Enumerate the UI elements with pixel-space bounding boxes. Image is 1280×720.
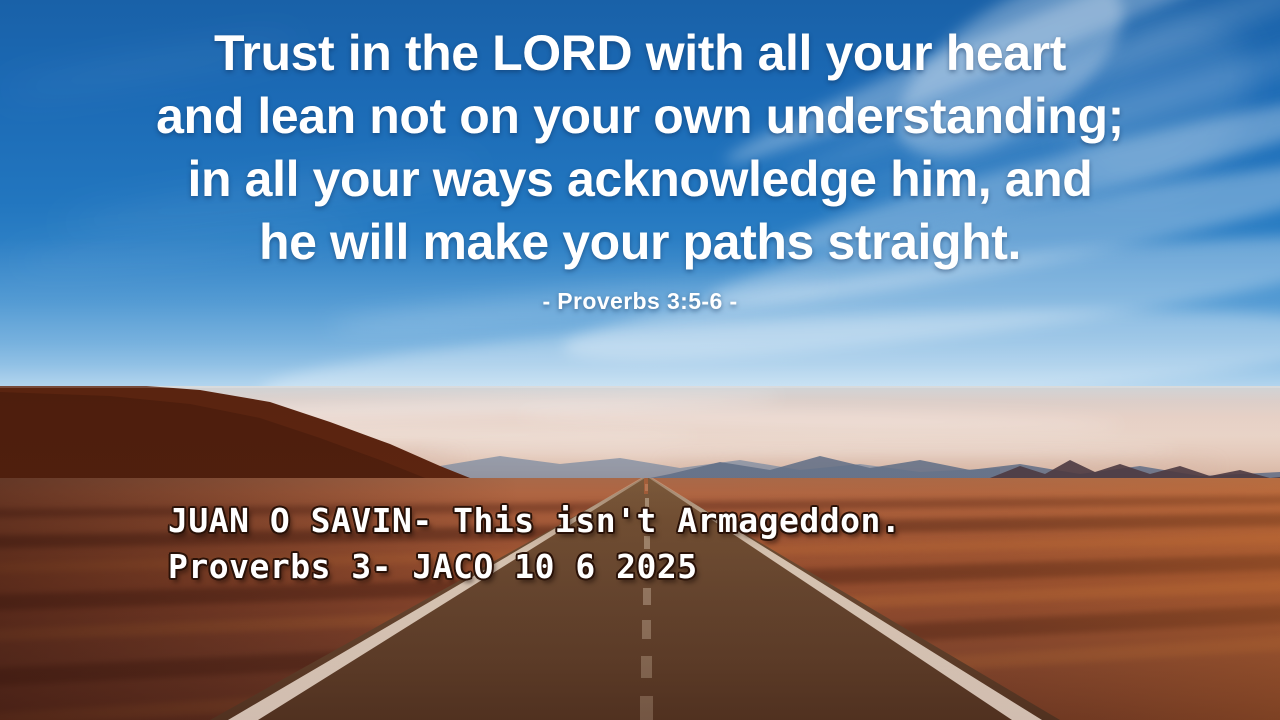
terrain-band (0, 633, 1280, 720)
cloud-streak-icon (660, 458, 1220, 472)
terrain-band (0, 602, 1280, 687)
thumbnail-canvas: Trust in the LORD with all your heart an… (0, 0, 1280, 720)
scripture-verse: Trust in the LORD with all your heart an… (0, 22, 1280, 315)
desert-sky (0, 386, 1280, 478)
cloud-streak-icon (180, 428, 700, 442)
verse-reference: - Proverbs 3:5-6 - (0, 288, 1280, 315)
cloud-streak-icon (40, 452, 460, 464)
title-line-1: JUAN O SAVIN- This isn't Armageddon. (168, 498, 1128, 544)
title-line-2: Proverbs 3- JACO 10 6 2025 (168, 544, 1128, 590)
video-title-overlay: JUAN O SAVIN- This isn't Armageddon. Pro… (168, 498, 1128, 590)
verse-line-4: he will make your paths straight. (0, 211, 1280, 274)
verse-line-1: Trust in the LORD with all your heart (0, 22, 1280, 85)
verse-line-2: and lean not on your own understanding; (0, 85, 1280, 148)
verse-line-3: in all your ways acknowledge him, and (0, 148, 1280, 211)
cloud-streak-icon (80, 388, 780, 430)
cloud-streak-icon (420, 440, 1180, 460)
cloud-streak-icon (520, 407, 1120, 433)
